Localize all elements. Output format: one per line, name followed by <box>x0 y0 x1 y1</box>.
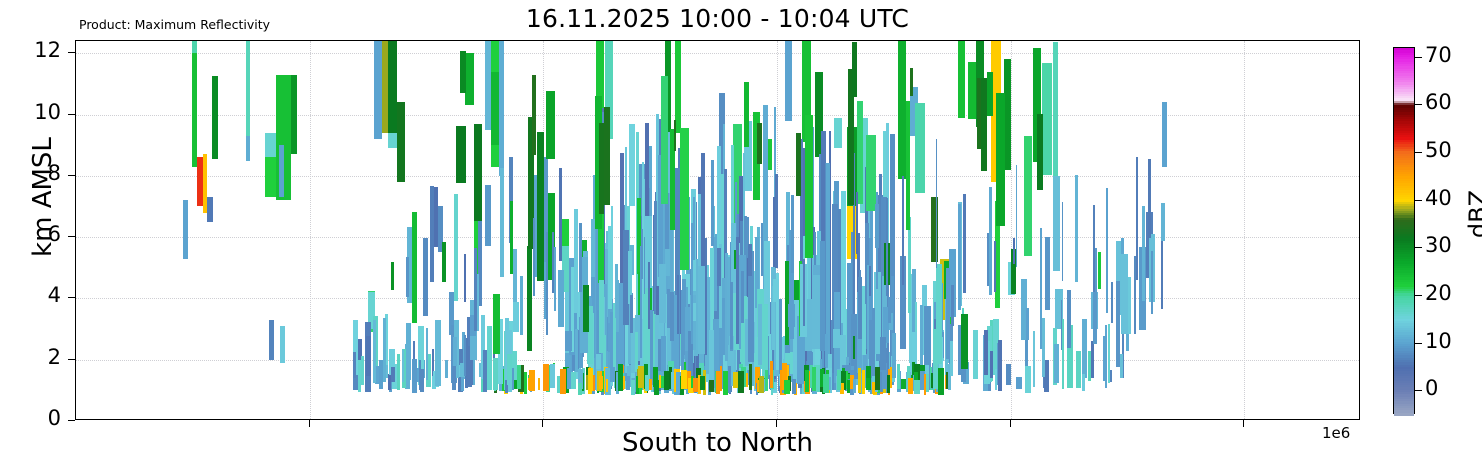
reflectivity-bar <box>709 380 714 393</box>
reflectivity-bar <box>746 373 748 387</box>
chart-title: 16.11.2025 10:00 - 10:04 UTC <box>75 4 1360 33</box>
reflectivity-bar <box>560 369 566 393</box>
reflectivity-bar <box>618 364 623 391</box>
reflectivity-bar <box>656 286 658 315</box>
reflectivity-bar <box>493 294 500 354</box>
reflectivity-bar <box>914 380 920 394</box>
reflectivity-bar <box>567 368 571 388</box>
reflectivity-bar <box>550 364 555 388</box>
reflectivity-bar <box>762 304 768 378</box>
reflectivity-bar <box>748 244 753 276</box>
reflectivity-bar <box>532 75 536 155</box>
reflectivity-bar <box>464 254 466 302</box>
reflectivity-bar <box>391 262 394 290</box>
reflectivity-bar <box>968 62 976 120</box>
reflectivity-bar <box>487 326 493 391</box>
reflectivity-bar <box>1024 136 1032 256</box>
reflectivity-bar <box>994 241 996 292</box>
reflectivity-bar <box>936 264 942 364</box>
reflectivity-bar <box>579 223 582 292</box>
reflectivity-bar <box>546 91 554 159</box>
reflectivity-bar <box>571 372 576 390</box>
reflectivity-bar <box>1148 159 1152 237</box>
reflectivity-bar <box>434 187 437 247</box>
y-tick-label: 6 <box>13 222 61 246</box>
reflectivity-bar <box>397 354 400 390</box>
reflectivity-bar <box>749 364 753 390</box>
reflectivity-bar <box>862 370 865 394</box>
y-tick-label: 2 <box>13 345 61 369</box>
reflectivity-bar <box>543 364 548 390</box>
x-tick-mark <box>309 420 310 427</box>
plot-area <box>75 40 1360 420</box>
reflectivity-bar <box>961 314 968 369</box>
reflectivity-bar <box>1116 281 1120 366</box>
reflectivity-bar <box>1042 318 1045 377</box>
reflectivity-bar <box>866 378 869 390</box>
reflectivity-bar <box>500 168 504 278</box>
reflectivity-bar <box>616 280 619 333</box>
reflectivity-bar <box>493 358 498 390</box>
reflectivity-bar <box>670 292 675 341</box>
reflectivity-bar <box>661 76 668 205</box>
reflectivity-bar <box>426 328 428 381</box>
x-axis-label: South to North <box>75 428 1360 458</box>
reflectivity-bar <box>791 195 794 272</box>
reflectivity-bar <box>391 367 395 382</box>
reflectivity-bar <box>1120 354 1122 378</box>
reflectivity-bar <box>373 320 376 382</box>
reflectivity-bar <box>460 51 465 93</box>
colorbar-label: dBZ <box>1464 154 1482 274</box>
x-tick-mark <box>776 420 777 427</box>
x-tick-mark <box>542 420 543 427</box>
reflectivity-bar <box>757 123 762 165</box>
y-tick-label: 12 <box>13 38 61 62</box>
reflectivity-bar <box>784 380 790 394</box>
reflectivity-bar <box>951 285 954 326</box>
reflectivity-bar <box>946 268 950 359</box>
reflectivity-bar <box>1037 114 1043 190</box>
reflectivity-bar <box>803 259 805 326</box>
reflectivity-bar <box>765 370 769 391</box>
reflectivity-bar <box>908 217 911 313</box>
reflectivity-bar <box>1106 188 1109 314</box>
reflectivity-bar <box>963 194 965 293</box>
reflectivity-bar <box>958 41 966 118</box>
colorbar-tick-label: 40 <box>1425 186 1452 210</box>
y-tick-mark <box>68 114 75 115</box>
reflectivity-bar <box>770 361 773 388</box>
reflectivity-bar <box>691 223 693 344</box>
reflectivity-bar <box>989 187 992 296</box>
reflectivity-bar <box>1121 254 1127 334</box>
reflectivity-bar <box>736 237 739 344</box>
reflectivity-bar <box>741 271 743 323</box>
colorbar-tick-mark <box>1415 295 1422 296</box>
reflectivity-bar <box>898 41 906 179</box>
reflectivity-bar <box>1006 364 1011 386</box>
y-tick-mark <box>68 359 75 360</box>
reflectivity-bar <box>453 337 457 366</box>
reflectivity-bar <box>574 209 579 313</box>
reflectivity-bar <box>996 93 1005 226</box>
reflectivity-bar <box>936 139 938 268</box>
colorbar <box>1393 47 1415 414</box>
reflectivity-bar <box>773 279 778 303</box>
reflectivity-bar <box>279 145 284 197</box>
reflectivity-bar <box>265 133 277 158</box>
reflectivity-bar <box>575 329 578 371</box>
reflectivity-bar <box>812 367 816 391</box>
reflectivity-bar <box>537 132 544 281</box>
reflectivity-bar <box>1111 282 1113 324</box>
reflectivity-bar <box>604 107 610 205</box>
reflectivity-bar <box>853 379 857 393</box>
reflectivity-bar <box>866 135 876 210</box>
reflectivity-bar <box>1161 203 1165 240</box>
reflectivity-bar <box>1025 366 1031 393</box>
y-tick-label: 8 <box>13 161 61 185</box>
reflectivity-bar <box>837 370 841 390</box>
reflectivity-bar <box>825 334 828 367</box>
y-tick-mark <box>68 52 75 53</box>
reflectivity-bar <box>474 124 481 221</box>
reflectivity-bar <box>1042 63 1052 175</box>
reflectivity-bar <box>658 339 662 371</box>
reflectivity-bar <box>442 242 446 282</box>
reflectivity-bar <box>388 133 397 148</box>
reflectivity-bar <box>1082 374 1084 391</box>
reflectivity-bar <box>834 118 842 149</box>
reflectivity-bar <box>1076 351 1081 389</box>
reflectivity-bar <box>291 75 297 155</box>
reflectivity-bar <box>1040 228 1042 349</box>
colorbar-tick-mark <box>1415 247 1422 248</box>
reflectivity-bar <box>192 41 197 167</box>
reflectivity-bar <box>588 368 593 390</box>
reflectivity-bar <box>738 371 744 394</box>
reflectivity-bar <box>654 380 659 395</box>
reflectivity-bar <box>1061 300 1063 350</box>
reflectivity-bar <box>1016 165 1018 267</box>
reflectivity-bar <box>397 102 405 182</box>
reflectivity-bar <box>1162 102 1167 166</box>
reflectivity-bar <box>1075 175 1078 282</box>
reflectivity-bar <box>1093 205 1095 292</box>
reflectivity-bar <box>858 277 861 339</box>
x-tick-mark <box>1243 420 1244 427</box>
reflectivity-bar <box>910 68 913 97</box>
reflectivity-bar <box>700 376 705 390</box>
reflectivity-bar <box>464 335 466 376</box>
reflectivity-bar <box>524 372 527 394</box>
reflectivity-bar <box>461 377 463 391</box>
reflectivity-bar <box>680 128 689 270</box>
reflectivity-bar <box>812 275 820 349</box>
reflectivity-bar <box>1026 308 1028 340</box>
reflectivity-bar <box>733 372 738 388</box>
y-tick-mark <box>68 175 75 176</box>
reflectivity-bar <box>406 257 409 297</box>
colorbar-tick-mark <box>1415 104 1422 105</box>
y-tick-mark <box>68 236 75 237</box>
reflectivity-bar <box>631 380 635 394</box>
reflectivity-bar <box>858 368 860 393</box>
reflectivity-bar <box>711 160 714 246</box>
reflectivity-bar <box>856 192 858 255</box>
reflectivity-bar <box>671 372 674 389</box>
reflectivity-bar <box>1088 351 1091 382</box>
reflectivity-bar <box>675 41 681 133</box>
reflectivity-bar <box>379 360 383 390</box>
reflectivity-bar <box>606 379 608 392</box>
reflectivity-bar <box>552 232 554 294</box>
reflectivity-bar <box>648 262 650 329</box>
colorbar-segment <box>1394 413 1414 416</box>
reflectivity-bar <box>599 123 604 214</box>
colorbar-tick-mark <box>1415 200 1422 201</box>
reflectivity-bar <box>630 295 633 333</box>
reflectivity-bar <box>667 289 670 328</box>
reflectivity-bar <box>1016 377 1021 390</box>
reflectivity-bar <box>529 370 534 391</box>
reflectivity-bar <box>558 270 565 327</box>
reflectivity-bar <box>730 282 733 349</box>
x-tick-mark <box>1010 420 1011 427</box>
colorbar-tick-label: 20 <box>1425 281 1452 305</box>
reflectivity-bar <box>908 378 913 393</box>
reflectivity-bar <box>674 120 677 151</box>
reflectivity-bar <box>906 101 910 231</box>
reflectivity-bar <box>1098 252 1101 288</box>
x-axis-exponent-label: 1e6 <box>1322 424 1350 442</box>
reflectivity-bar <box>583 285 589 332</box>
reflectivity-bar <box>705 238 707 355</box>
reflectivity-bar <box>402 350 404 383</box>
reflectivity-columns <box>76 41 1359 419</box>
colorbar-tick-label: 0 <box>1425 376 1438 400</box>
reflectivity-bar <box>761 223 763 276</box>
reflectivity-bar <box>973 330 979 379</box>
reflectivity-bar <box>491 72 499 146</box>
reflectivity-bar <box>1103 336 1107 381</box>
reflectivity-bar <box>709 330 715 380</box>
reflectivity-bar <box>833 329 840 348</box>
reflectivity-bar <box>559 168 562 261</box>
reflectivity-bar <box>527 246 531 351</box>
reflectivity-bar <box>246 41 250 136</box>
reflectivity-bar <box>269 320 274 360</box>
reflectivity-bar <box>1062 319 1064 389</box>
reflectivity-bar <box>823 374 829 393</box>
reflectivity-bar <box>1053 176 1059 271</box>
reflectivity-bar <box>869 266 871 296</box>
reflectivity-bar <box>805 115 813 259</box>
reflectivity-bar <box>958 204 961 310</box>
reflectivity-bar <box>388 41 397 139</box>
reflectivity-bar <box>599 280 605 353</box>
y-tick-mark <box>68 297 75 298</box>
reflectivity-bar <box>499 41 504 176</box>
reflectivity-bar <box>875 367 880 390</box>
reflectivity-bar <box>890 367 892 387</box>
colorbar-gradient <box>1393 47 1415 414</box>
reflectivity-bar <box>445 360 448 378</box>
reflectivity-bar <box>852 42 857 97</box>
colorbar-tick-mark <box>1415 152 1422 153</box>
reflectivity-bar <box>1091 341 1095 378</box>
colorbar-tick-mark <box>1415 343 1422 344</box>
reflectivity-bar <box>987 233 989 287</box>
reflectivity-bar <box>374 41 382 139</box>
reflectivity-bar <box>926 374 929 392</box>
reflectivity-bar <box>728 366 731 393</box>
reflectivity-bar <box>435 320 441 386</box>
reflectivity-bar <box>1136 157 1138 281</box>
reflectivity-bar <box>886 198 888 295</box>
reflectivity-bar <box>679 260 681 354</box>
reflectivity-bar <box>1053 42 1058 176</box>
reflectivity-bar <box>857 101 863 205</box>
reflectivity-bar <box>1045 237 1051 310</box>
reflectivity-bar <box>759 376 763 393</box>
reflectivity-bar <box>876 192 878 289</box>
reflectivity-bar <box>698 266 705 354</box>
reflectivity-bar <box>538 378 540 390</box>
reflectivity-bar <box>420 369 425 392</box>
reflectivity-bar <box>714 237 717 311</box>
reflectivity-bar <box>366 336 371 376</box>
reflectivity-bar <box>641 229 643 278</box>
radar-cross-section-figure: Product: Maximum Reflectivity 16.11.2025… <box>0 0 1482 470</box>
reflectivity-bar <box>1082 319 1088 378</box>
reflectivity-bar <box>915 103 925 193</box>
reflectivity-bar <box>626 376 630 390</box>
reflectivity-bar <box>533 218 535 296</box>
reflectivity-bar <box>608 226 611 310</box>
reflectivity-bar <box>1067 290 1071 348</box>
reflectivity-bar <box>1151 251 1154 314</box>
reflectivity-bar <box>867 265 869 358</box>
reflectivity-bar <box>353 352 356 378</box>
reflectivity-bar <box>693 303 696 321</box>
reflectivity-bar <box>456 126 466 183</box>
reflectivity-bar <box>853 336 856 359</box>
y-tick-label: 0 <box>13 406 61 430</box>
reflectivity-bar <box>629 124 635 207</box>
reflectivity-bar <box>693 378 698 392</box>
reflectivity-bar <box>645 375 649 391</box>
reflectivity-bar <box>987 72 993 116</box>
reflectivity-bar <box>565 331 572 351</box>
reflectivity-bar <box>785 41 791 121</box>
reflectivity-bar <box>1062 202 1064 281</box>
reflectivity-bar <box>950 341 952 376</box>
y-tick-label: 4 <box>13 283 61 307</box>
reflectivity-bar <box>880 337 886 371</box>
reflectivity-bar <box>984 330 988 376</box>
reflectivity-bar <box>744 82 749 147</box>
reflectivity-bar <box>1142 206 1145 301</box>
reflectivity-bar <box>183 200 189 258</box>
reflectivity-bar <box>452 366 456 390</box>
reflectivity-bar <box>902 176 904 285</box>
reflectivity-bar <box>474 248 477 332</box>
reflectivity-bar <box>544 262 546 320</box>
reflectivity-bar <box>727 278 729 345</box>
colorbar-tick-label: 10 <box>1425 329 1452 353</box>
reflectivity-bar <box>924 374 926 395</box>
y-tick-mark <box>68 420 75 421</box>
reflectivity-bar <box>998 340 1002 391</box>
reflectivity-bar <box>792 379 796 394</box>
reflectivity-bar <box>192 41 197 53</box>
reflectivity-bar <box>412 359 417 393</box>
reflectivity-bar <box>892 333 896 378</box>
reflectivity-bar <box>981 78 987 171</box>
reflectivity-bar <box>520 276 523 335</box>
reflectivity-bar <box>554 247 556 310</box>
reflectivity-bar <box>207 197 213 222</box>
reflectivity-bar <box>423 238 428 316</box>
reflectivity-bar <box>1054 344 1060 383</box>
reflectivity-bar <box>212 76 218 159</box>
reflectivity-bar <box>578 383 583 395</box>
reflectivity-bar <box>513 302 519 332</box>
reflectivity-bar <box>888 297 891 323</box>
reflectivity-bar <box>638 366 643 389</box>
colorbar-tick-mark <box>1415 390 1422 391</box>
colorbar-tick-mark <box>1415 57 1422 58</box>
reflectivity-bar <box>599 376 603 389</box>
reflectivity-bar <box>412 212 417 323</box>
reflectivity-bar <box>820 241 824 351</box>
reflectivity-bar <box>517 365 521 389</box>
reflectivity-bar <box>796 133 801 195</box>
reflectivity-bar <box>510 201 512 273</box>
reflectivity-bar <box>805 370 809 392</box>
reflectivity-bar <box>1033 331 1035 386</box>
reflectivity-bar <box>659 264 666 323</box>
reflectivity-bar <box>465 53 473 105</box>
reflectivity-bar <box>280 326 285 363</box>
reflectivity-bar <box>507 354 512 381</box>
reflectivity-bar <box>454 194 458 301</box>
colorbar-tick-label: 30 <box>1425 233 1452 257</box>
reflectivity-bar <box>383 318 386 382</box>
colorbar-tick-label: 60 <box>1425 90 1452 114</box>
reflectivity-bar <box>664 371 669 390</box>
reflectivity-bar <box>361 356 365 385</box>
colorbar-tick-label: 50 <box>1425 138 1452 162</box>
reflectivity-bar <box>775 174 778 269</box>
reflectivity-bar <box>608 323 610 352</box>
reflectivity-bar <box>716 371 720 393</box>
reflectivity-bar <box>485 185 491 246</box>
y-tick-label: 10 <box>13 100 61 124</box>
colorbar-tick-label: 70 <box>1425 43 1452 67</box>
reflectivity-bar <box>938 368 944 395</box>
reflectivity-bar <box>681 370 687 388</box>
reflectivity-bar <box>897 364 900 389</box>
reflectivity-bar <box>659 375 661 388</box>
reflectivity-bar <box>1108 324 1110 383</box>
